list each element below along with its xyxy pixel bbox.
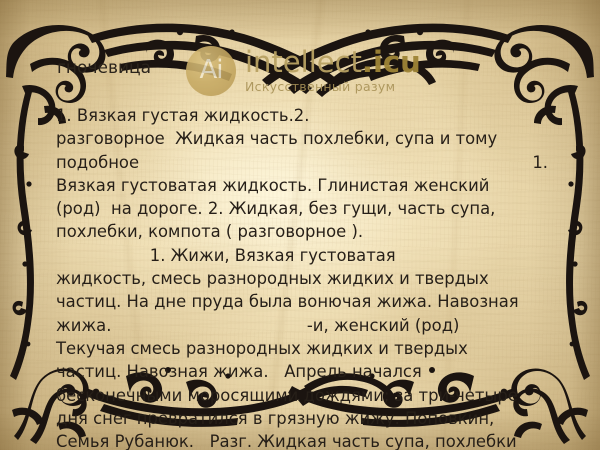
headword: гночевица [57, 60, 151, 77]
definition-line: частиц. Навозная жижа. Апрель начался [56, 360, 548, 383]
definition-line: похлебки, компота ( разговорное ). [56, 220, 548, 243]
definition-line: жижа.-и, женский (род) [56, 314, 548, 337]
definition-line-right: 1. [532, 151, 548, 174]
definition-line: Вязкая густоватая жидкость. Глинистая же… [56, 174, 548, 197]
definition-body: 1. Вязкая густая жидкость.2.разговорное … [56, 104, 548, 450]
definition-line-right: -и, женский (род) [307, 314, 548, 337]
definition-line: Семья Рубанюк. Разг. Жидкая часть супа, … [56, 430, 548, 450]
definition-line-left: жижа. [56, 314, 111, 337]
definition-line: (род) на дороге. 2. Жидкая, без гущи, ча… [56, 197, 548, 220]
definition-line: 1. Вязкая густая жидкость.2. [56, 104, 548, 127]
definition-line-left: подобное [56, 151, 139, 174]
definition-line: 1. Жижи, Вязкая густоватая [56, 244, 548, 267]
definition-line: подобное1. [56, 151, 548, 174]
definition-line: дня снег превратился в грязную жижу. Поп… [56, 407, 548, 430]
definition-line: жидкость, смесь разнородных жидких и тве… [56, 267, 548, 290]
definition-line: частиц. На дне пруда была вонючая жижа. … [56, 290, 548, 313]
definition-line: бесконечными моросящими дождями; за три-… [56, 384, 548, 407]
definition-line: Текучая смесь разнородных жидких и тверд… [56, 337, 548, 360]
dictionary-slide: Ai intellect.icu Искусственный разум гно… [0, 0, 600, 450]
definition-line: разговорное Жидкая часть похлебки, супа … [56, 127, 548, 150]
